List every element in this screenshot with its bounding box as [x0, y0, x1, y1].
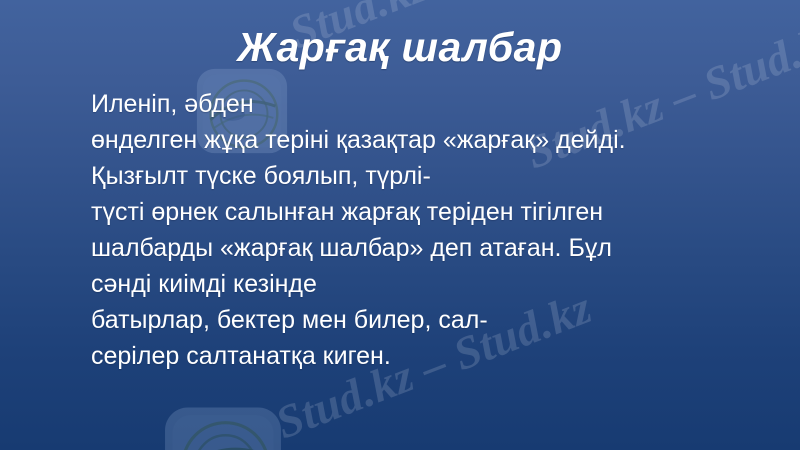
slide-body: Иленіп, әбден өнделген жұқа теріні қазақ… [91, 86, 781, 374]
presentation-slide: Stud.kz – Stud.kz Stud.kz – Stud.kz Stud… [0, 0, 800, 450]
stud-kz-logo-icon [160, 400, 286, 450]
body-line: батырлар, бектер мен билер, сал- [91, 302, 781, 338]
body-line: Қызғылт түске боялып, түрлі- [91, 158, 781, 194]
slide-title: Жарғақ шалбар [0, 24, 800, 71]
body-line: түсті өрнек салынған жарғақ теріден тігі… [91, 194, 781, 230]
body-line: Иленіп, әбден [91, 86, 781, 122]
body-line: сәнді киімді кезінде [91, 266, 781, 302]
body-line: өнделген жұқа теріні қазақтар «жарғақ» д… [91, 122, 781, 158]
body-line: серілер салтанатқа киген. [91, 338, 781, 374]
body-line: шалбарды «жарғақ шалбар» деп атаған. Бұл [91, 230, 781, 266]
